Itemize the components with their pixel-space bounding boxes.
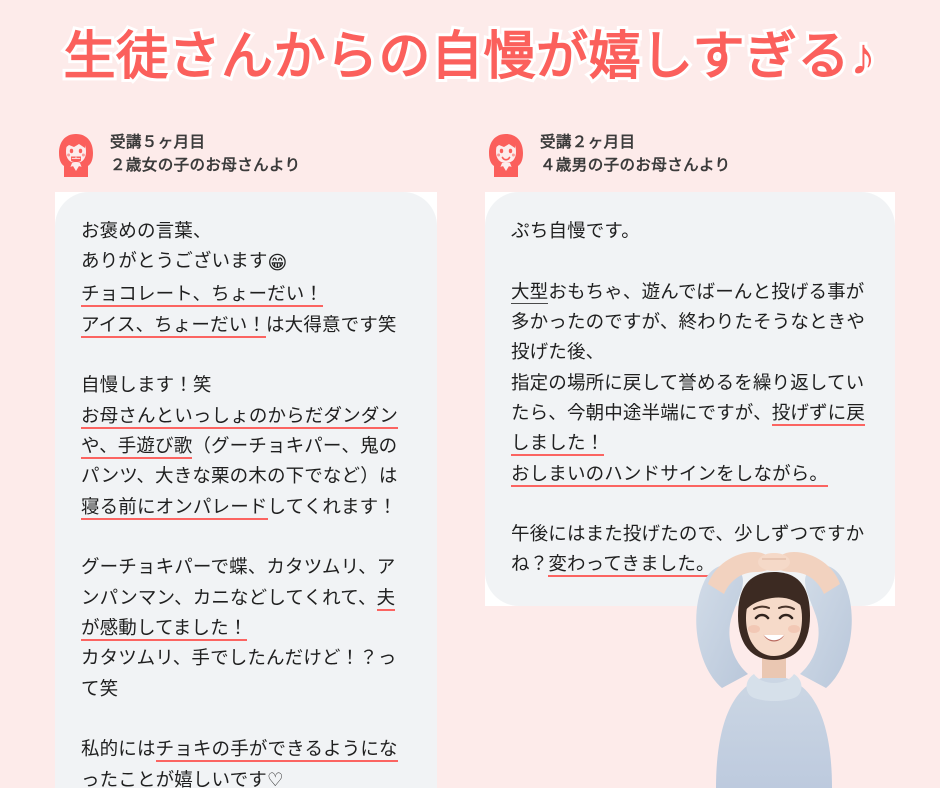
paragraph-spacer	[81, 522, 411, 552]
testimonial-header-2: 受講２ヶ月目 ４歳男の子のお母さんより	[485, 132, 895, 178]
highlighted-text-run: チョコレート、ちょーだい！	[81, 283, 323, 307]
highlighted-text-run: アイス、ちょーだい！	[81, 314, 266, 338]
paragraph-spacer	[81, 340, 411, 370]
testimonial-duration-1: 受講５ヶ月目	[110, 132, 301, 155]
paragraph: おしまいのハンドサインをしながら。	[511, 459, 869, 489]
text-run: グーチョキパーで蝶、カタツムリ、アンパンマン、カニなどしてくれて、	[81, 556, 395, 607]
paragraph: お母さんといっしょのからだダンダンや、手遊び歌（グーチョキパー、鬼のパンツ、大き…	[81, 401, 411, 522]
paragraph: 大型おもちゃ、遊んでばーんと投げる事が多かったのですが、終わりたそうなときや投げ…	[511, 277, 869, 368]
text-run: 自慢します！笑	[81, 374, 212, 395]
testimonial-meta-2: 受講２ヶ月目 ４歳男の子のお母さんより	[540, 132, 731, 178]
grinning-face-emoji: 😁	[268, 253, 288, 274]
testimonial-author-2: ４歳男の子のお母さんより	[540, 155, 731, 178]
testimonial-author-1: ２歳女の子のお母さんより	[110, 155, 301, 178]
paragraph: 指定の場所に戻して誉めるを繰り返していたら、今朝中途半端にですが、投げずに戻しま…	[511, 368, 869, 459]
text-run: ありがとうございます	[81, 250, 268, 271]
paragraph: チョコレート、ちょーだい！	[81, 279, 411, 309]
paragraph: 自慢します！笑	[81, 370, 411, 400]
text-run: 私的には	[81, 738, 156, 759]
left-cheek	[748, 625, 760, 633]
paragraph: お褒めの言葉、	[81, 216, 411, 246]
text-run: ぷち自慢です。	[511, 220, 640, 241]
instructor-photo	[626, 538, 922, 788]
testimonial-card-1: 受講５ヶ月目 ２歳女の子のお母さんより お褒めの言葉、 ありがとうございます😁 …	[0, 132, 470, 788]
female-avatar-icon	[485, 133, 527, 177]
female-avatar-icon	[55, 133, 97, 177]
right-cheek	[788, 625, 800, 633]
page-title: 生徒さんからの自慢が嬉しすぎる♪	[64, 28, 877, 86]
text-run: カタツムリ、手でしたんだけど！？って笑	[81, 647, 397, 698]
testimonial-bubble-plate-1: お褒めの言葉、 ありがとうございます😁 チョコレート、ちょーだい！ アイス、ちょ…	[55, 192, 437, 788]
page-title-container: 生徒さんからの自慢が嬉しすぎる♪	[0, 28, 940, 86]
paragraph: グーチョキパーで蝶、カタツムリ、アンパンマン、カニなどしてくれて、夫が感動してま…	[81, 552, 411, 643]
paragraph: カタツムリ、手でしたんだけど！？って笑	[81, 643, 411, 704]
paragraph: アイス、ちょーだい！は大得意です笑	[81, 310, 411, 340]
testimonial-duration-2: 受講２ヶ月目	[540, 132, 731, 155]
text-run: お褒めの言葉、	[81, 220, 212, 241]
testimonial-header-1: 受講５ヶ月目 ２歳女の子のお母さんより	[55, 132, 437, 178]
testimonial-body-1: お褒めの言葉、 ありがとうございます😁 チョコレート、ちょーだい！ アイス、ちょ…	[55, 192, 437, 788]
paragraph: 私的にはチョキの手ができるようになったことが嬉しいです♡	[81, 734, 411, 788]
paragraph: ぷち自慢です。	[511, 216, 869, 246]
text-run: は大得意です笑	[266, 314, 397, 335]
paragraph-spacer	[511, 246, 869, 276]
paragraph-spacer	[511, 489, 869, 519]
highlighted-text-run: 寝る前にオンパレード	[81, 496, 268, 520]
text-run: おもちゃ、遊んでばーんと投げる事が多かったのですが、終わりたそうなときや投げた後…	[511, 281, 865, 363]
highlighted-text-run: 大型	[511, 281, 548, 304]
paragraph: ありがとうございます😁	[81, 246, 411, 279]
testimonial-meta-1: 受講５ヶ月目 ２歳女の子のお母さんより	[110, 132, 301, 178]
paragraph-spacer	[81, 704, 411, 734]
text-run: してくれます！	[268, 496, 397, 517]
highlighted-text-run: おしまいのハンドサインをしながら。	[511, 463, 828, 487]
hands-touching	[758, 553, 790, 571]
